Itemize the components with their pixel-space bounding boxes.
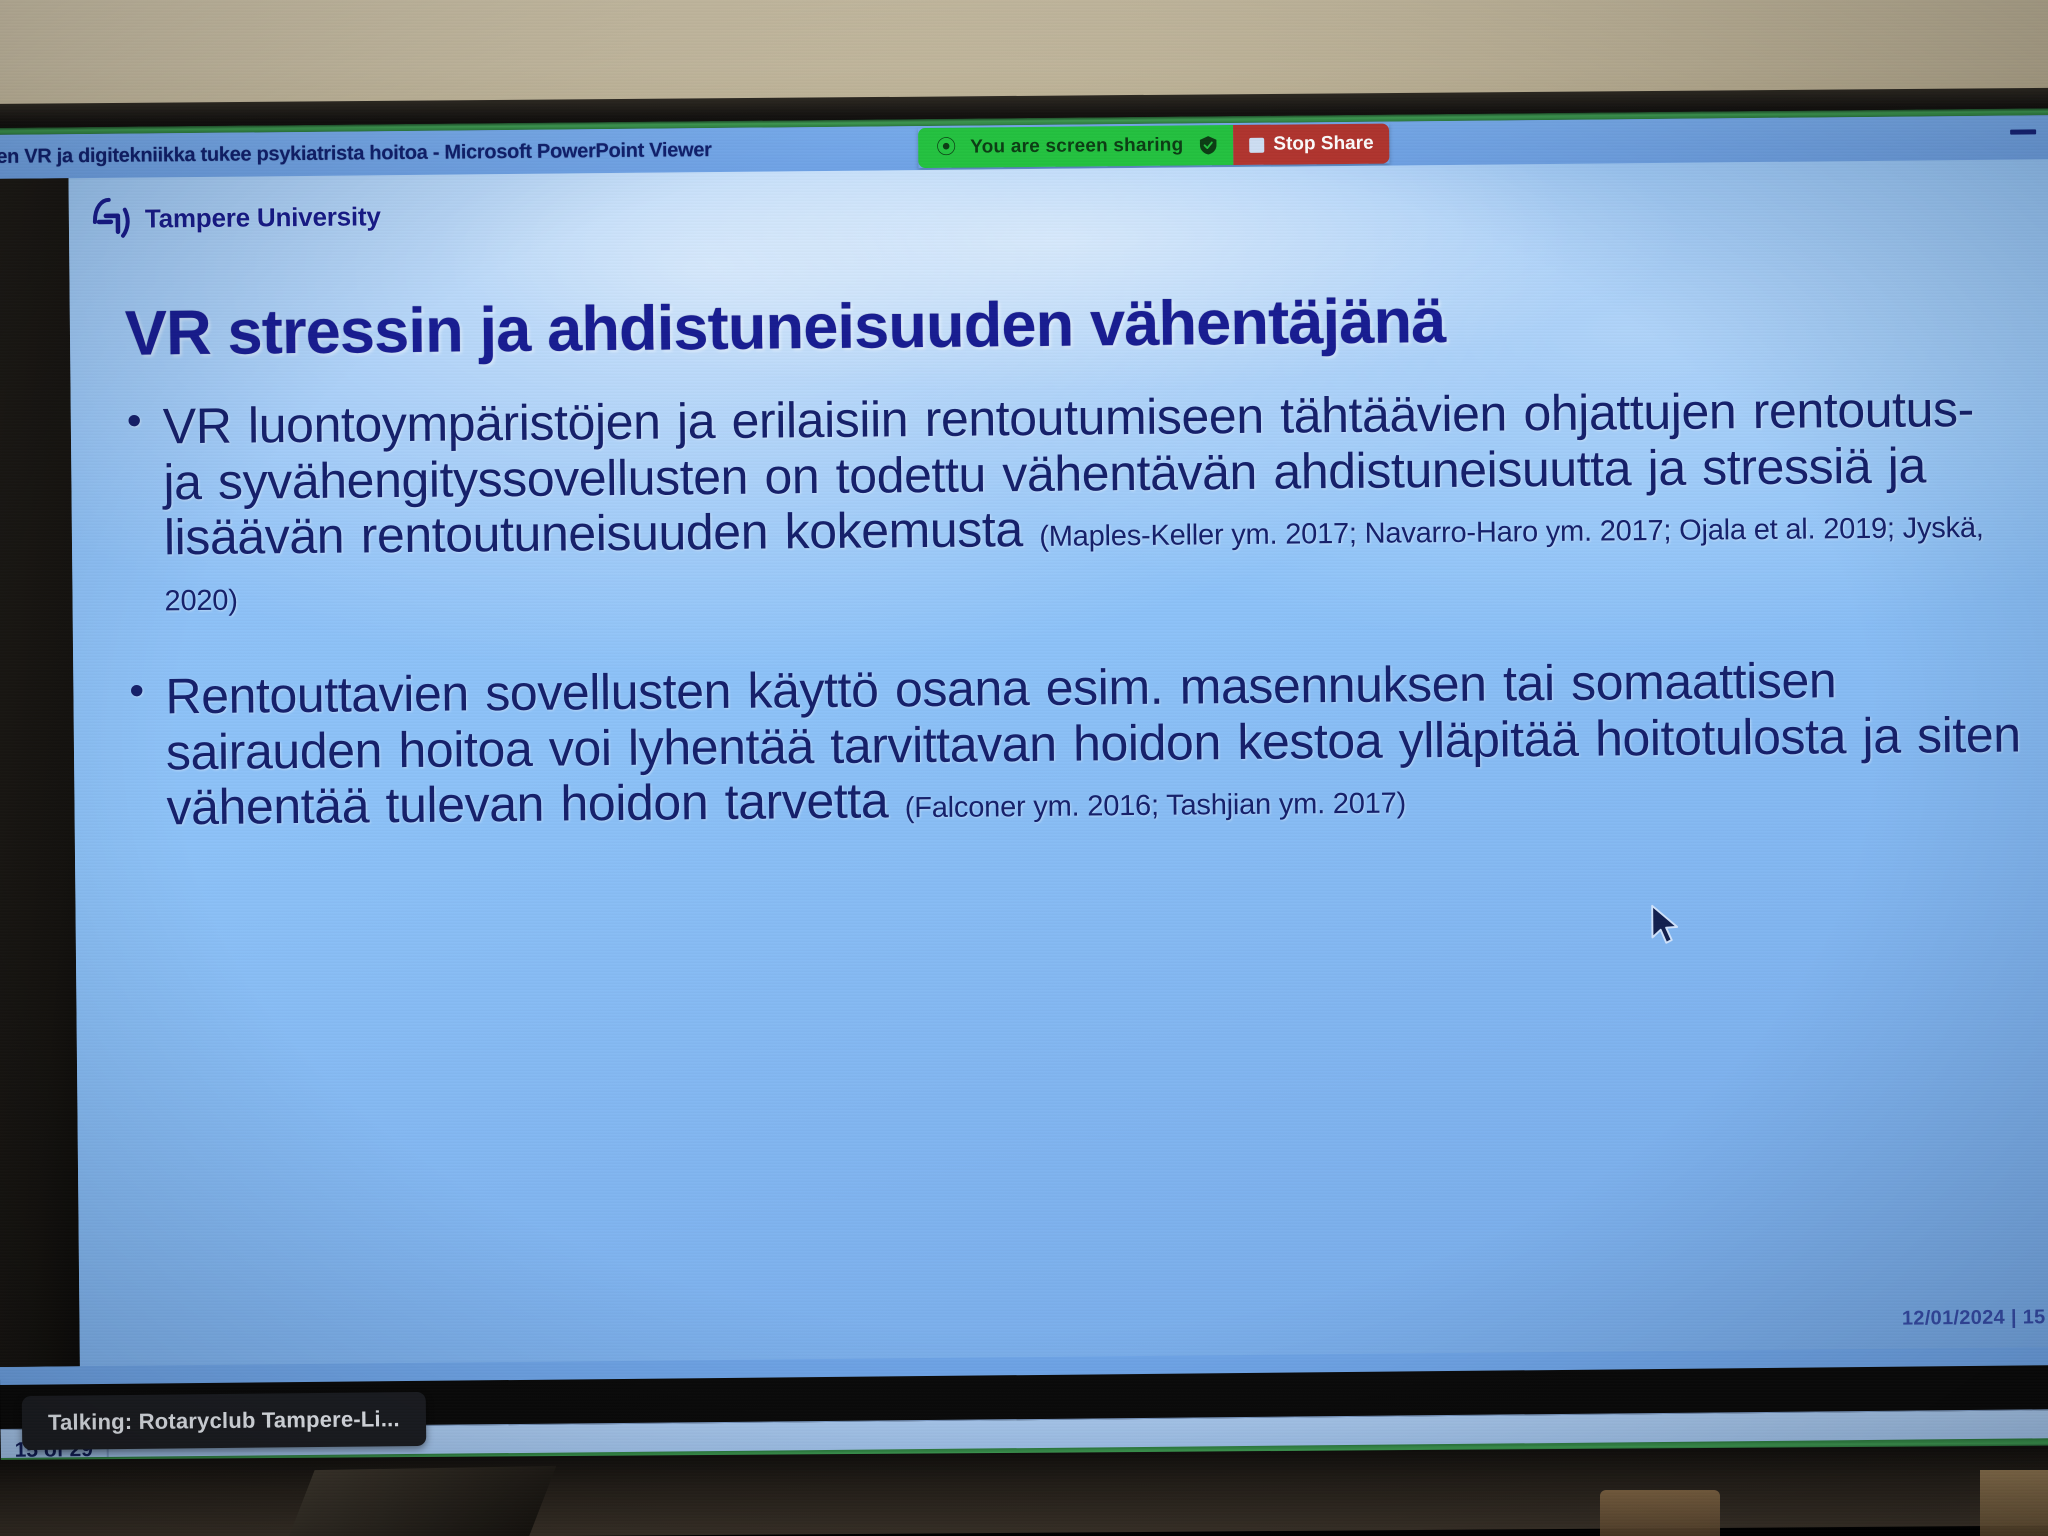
slide-canvas: Tampere University VR stressin ja ahdist… [68, 159, 2048, 1366]
powerpoint-viewer-window: en VR ja digitekniikka tukee psykiatrist… [0, 115, 2048, 1385]
zoom-talking-label: Talking: Rotaryclub Tampere-Li... [48, 1406, 400, 1436]
desk-object [1600, 1490, 1720, 1536]
tampere-university-mark-icon [89, 196, 135, 242]
screen-share-toolbar: ⦿ You are screen sharing Stop Share [918, 124, 1390, 169]
slide-title: VR stressin ja ahdistuneisuuden vähentäj… [125, 280, 1926, 369]
brand-name: Tampere University [145, 201, 381, 234]
monitor-stand [284, 1466, 557, 1536]
stop-share-button[interactable]: Stop Share [1233, 124, 1390, 165]
screen-share-label: You are screen sharing [970, 135, 1183, 159]
stop-share-label: Stop Share [1273, 133, 1374, 156]
monitor-screen: en VR ja digitekniikka tukee psykiatrist… [0, 108, 2048, 1468]
slide-footer-date: 12/01/2024 [1902, 1307, 2005, 1330]
slide-footer: 12/01/2024 | 15 [1902, 1306, 2046, 1330]
bullet-item: Rentouttavien sovellusten käyttö osana e… [123, 651, 2025, 836]
slide-footer-separator: | [2011, 1307, 2017, 1329]
slide-letterbox-left [0, 178, 80, 1367]
stop-square-icon [1249, 137, 1264, 152]
share-leaf-icon: ⦿ [936, 138, 956, 158]
bullet-item: VR luontoympäristöjen ja erilaisiin rent… [121, 382, 2023, 622]
bullet-citation: (Falconer ym. 2016; Tashjian ym. 2017) [905, 787, 1407, 824]
photo-of-monitor: en VR ja digitekniikka tukee psykiatrist… [0, 0, 2048, 1536]
screen-share-status: ⦿ You are screen sharing [918, 125, 1234, 168]
tampere-university-logo: Tampere University [89, 193, 381, 242]
zoom-talking-indicator[interactable]: Talking: Rotaryclub Tampere-Li... [22, 1392, 426, 1450]
mouse-cursor-icon [1648, 903, 1682, 947]
desk-object-secondary [1980, 1470, 2048, 1536]
slide-body: VR luontoympäristöjen ja erilaisiin rent… [121, 382, 2025, 837]
shield-icon[interactable] [1197, 134, 1219, 156]
screen-glare [408, 159, 1711, 405]
slide-footer-number: 15 [2023, 1306, 2046, 1328]
window-title: en VR ja digitekniikka tukee psykiatrist… [0, 139, 712, 169]
minimize-button[interactable] [2010, 129, 2036, 134]
